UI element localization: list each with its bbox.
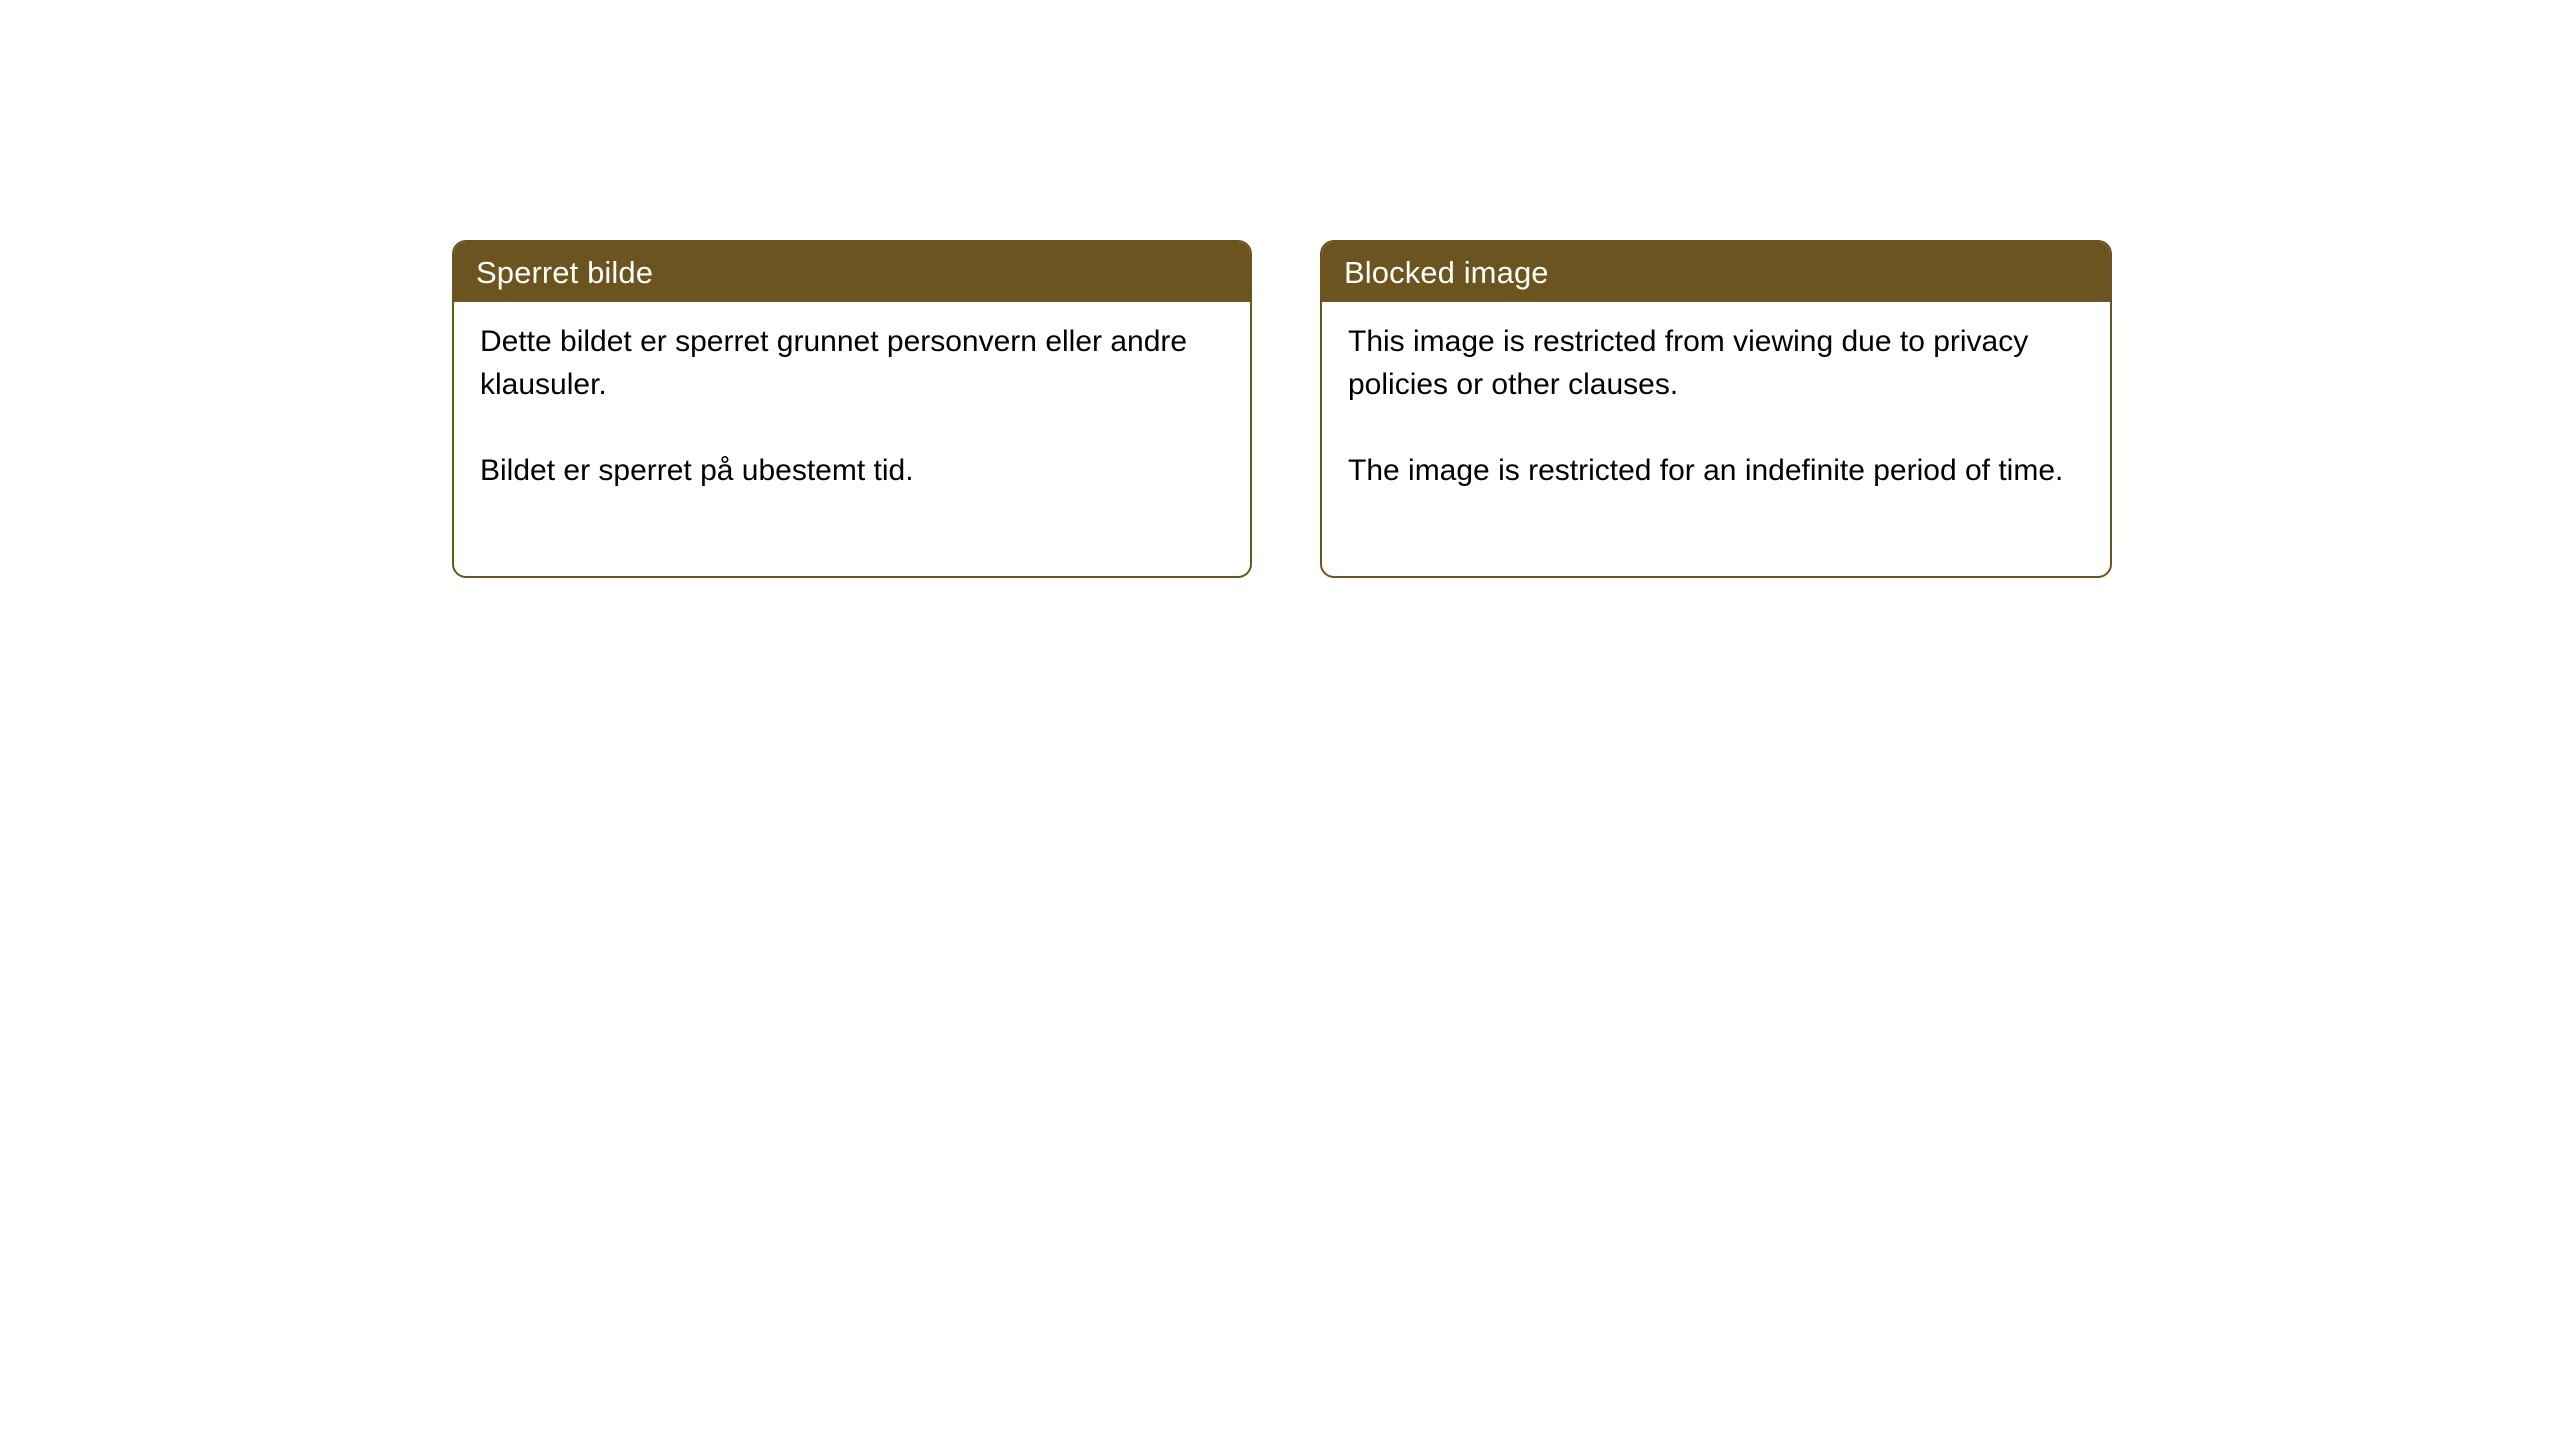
card-title-norwegian: Sperret bilde [476,257,653,288]
card-body-english: This image is restricted from viewing du… [1322,302,2110,492]
card-paragraph-duration-english: The image is restricted for an indefinit… [1348,449,2084,492]
card-header-english: Blocked image [1322,242,2110,302]
card-paragraph-reason-english: This image is restricted from viewing du… [1348,320,2084,406]
blocked-image-card-english: Blocked image This image is restricted f… [1320,240,2112,578]
blocked-image-notice-container: Sperret bilde Dette bildet er sperret gr… [452,240,2112,578]
blocked-image-card-norwegian: Sperret bilde Dette bildet er sperret gr… [452,240,1252,578]
card-paragraph-duration-norwegian: Bildet er sperret på ubestemt tid. [480,449,1224,492]
card-header-norwegian: Sperret bilde [454,242,1250,302]
card-paragraph-reason-norwegian: Dette bildet er sperret grunnet personve… [480,320,1224,406]
card-title-english: Blocked image [1344,257,1549,288]
card-body-norwegian: Dette bildet er sperret grunnet personve… [454,302,1250,492]
